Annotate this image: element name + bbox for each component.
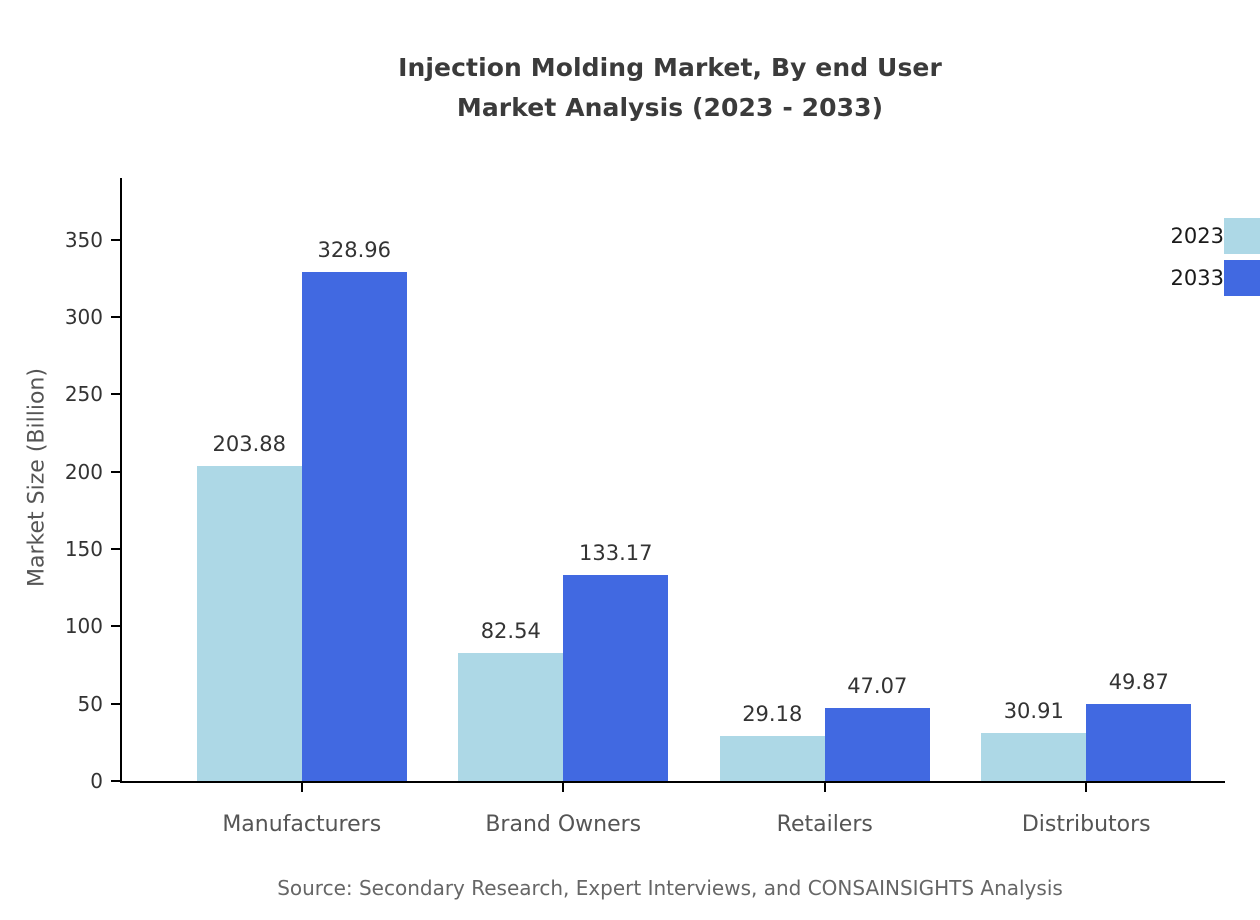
y-tick-label: 150 <box>41 537 103 561</box>
legend-swatch-2023 <box>1224 218 1260 254</box>
chart-legend: 2023 2033 <box>1098 218 1260 302</box>
legend-label-2033: 2033 <box>1171 266 1224 290</box>
y-axis-spine <box>120 178 122 781</box>
x-tick-label: Manufacturers <box>172 812 432 837</box>
y-tick-label: 50 <box>41 692 103 716</box>
bar-2033-retailers[interactable] <box>825 708 930 781</box>
x-tick-label: Distributors <box>956 812 1216 837</box>
x-tick-mark <box>1085 783 1087 792</box>
y-tick-label: 200 <box>41 460 103 484</box>
bar-2023-distributors[interactable] <box>981 733 1086 781</box>
bar-2023-brand-owners[interactable] <box>458 653 563 781</box>
chart-title: Injection Molding Market, By end User Ma… <box>0 48 1260 128</box>
y-tick-label: 100 <box>41 614 103 638</box>
y-tick-label: 250 <box>41 382 103 406</box>
legend-item-2033[interactable]: 2033 <box>1098 260 1260 302</box>
plot-area: 050100150200250300350 ManufacturersBrand… <box>121 178 1224 781</box>
x-tick-label: Brand Owners <box>433 812 693 837</box>
y-tick-label: 350 <box>41 228 103 252</box>
x-tick-mark <box>301 783 303 792</box>
x-tick-label: Retailers <box>695 812 955 837</box>
y-tick-mark <box>111 548 121 550</box>
source-note: Source: Secondary Research, Expert Inter… <box>0 876 1260 900</box>
bar-2033-brand-owners[interactable] <box>563 575 668 781</box>
y-tick-label: 300 <box>41 305 103 329</box>
y-tick-mark <box>111 625 121 627</box>
chart-figure: Injection Molding Market, By end User Ma… <box>0 0 1260 920</box>
y-tick-mark <box>111 239 121 241</box>
chart-title-line-1: Injection Molding Market, By end User <box>0 48 1260 88</box>
bar-2023-retailers[interactable] <box>720 736 825 781</box>
y-tick-mark <box>111 780 121 782</box>
legend-swatch-2033 <box>1224 260 1260 296</box>
bar-value-label: 49.87 <box>1049 670 1229 694</box>
bar-value-label: 328.96 <box>264 238 444 262</box>
x-tick-mark <box>562 783 564 792</box>
x-tick-mark <box>824 783 826 792</box>
y-tick-mark <box>111 471 121 473</box>
y-tick-mark <box>111 393 121 395</box>
bar-2033-manufacturers[interactable] <box>302 272 407 781</box>
y-tick-mark <box>111 316 121 318</box>
x-axis-spine <box>120 781 1225 783</box>
legend-item-2023[interactable]: 2023 <box>1098 218 1260 260</box>
chart-title-line-2: Market Analysis (2023 - 2033) <box>0 88 1260 128</box>
bar-value-label: 47.07 <box>787 674 967 698</box>
legend-label-2023: 2023 <box>1171 224 1224 248</box>
y-tick-label: 0 <box>41 769 103 793</box>
bar-value-label: 133.17 <box>526 541 706 565</box>
bar-2023-manufacturers[interactable] <box>197 466 302 781</box>
y-tick-mark <box>111 703 121 705</box>
bar-2033-distributors[interactable] <box>1086 704 1191 781</box>
